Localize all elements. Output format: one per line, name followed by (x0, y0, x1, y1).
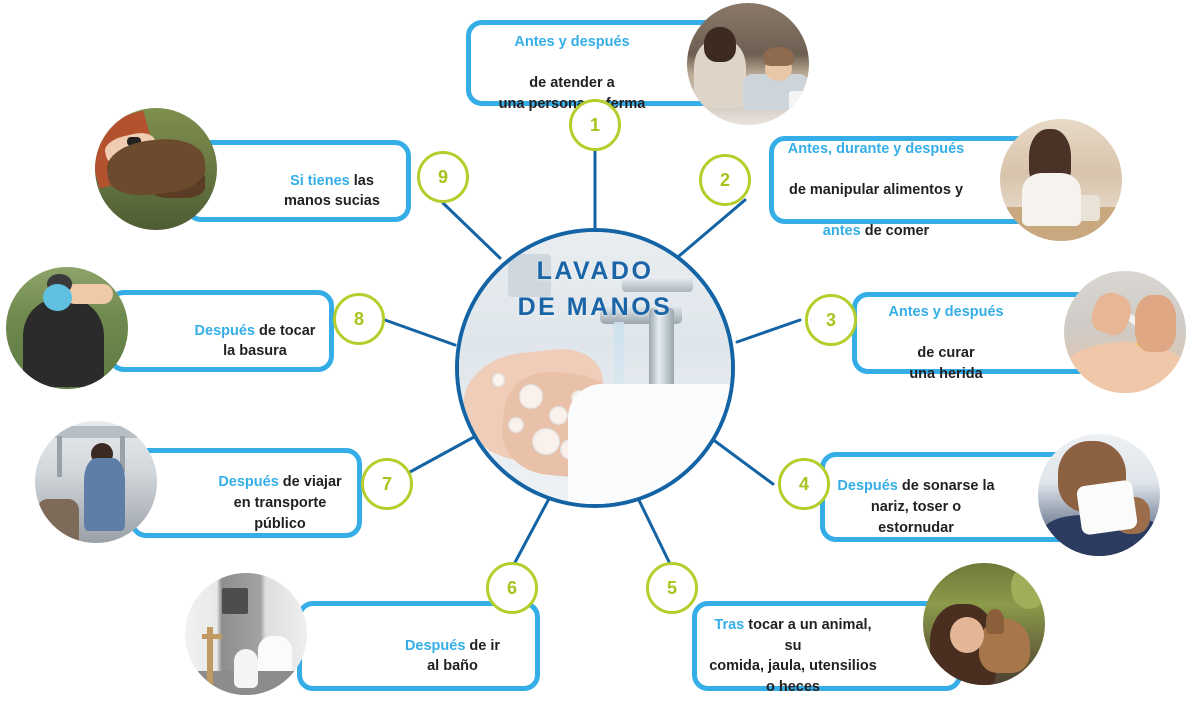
treating-wound-photo (1064, 271, 1186, 393)
number-badge-3-label: 3 (826, 310, 836, 331)
card-3-highlight: Antes y después (888, 304, 1003, 320)
connector-6 (512, 493, 552, 568)
number-badge-1-label: 1 (590, 115, 600, 136)
card-2-highlight-2: antes (823, 223, 861, 239)
card-5-text: Tras tocar a un animal, su comida, jaula… (697, 595, 957, 698)
card-8-highlight: Después (195, 323, 255, 339)
card-1-body: de atender a una persona enferma (499, 75, 646, 112)
card-7-text: Después de viajar en transporte público (138, 452, 353, 534)
central-hub: LAVADO DE MANOS (455, 228, 735, 508)
trash-bag-photo (6, 267, 128, 389)
card-6-text: Después de ir al baño (325, 615, 512, 677)
card-9[interactable]: Si tienes las manos sucias (185, 140, 411, 222)
number-badge-6[interactable]: 6 (486, 562, 538, 614)
card-1-highlight: Antes y después (514, 34, 629, 50)
number-badge-2-label: 2 (720, 170, 730, 191)
public-transport-photo (35, 421, 157, 543)
number-badge-5-label: 5 (667, 578, 677, 599)
number-badge-8-label: 8 (354, 309, 364, 330)
card-8-text: Después de tocar la basura (115, 300, 328, 362)
sneezing-tissue-photo (1038, 434, 1160, 556)
card-2-highlight: Antes, durante y después (788, 141, 964, 157)
card-9-text: Si tienes las manos sucias (204, 150, 392, 212)
card-6-highlight: Después (405, 638, 465, 654)
number-badge-9-label: 9 (438, 167, 448, 188)
number-badge-6-label: 6 (507, 578, 517, 599)
number-badge-5[interactable]: 5 (646, 562, 698, 614)
number-badge-1[interactable]: 1 (569, 99, 621, 151)
card-4-highlight: Después (837, 478, 897, 494)
caring-for-sick-person-photo (687, 3, 809, 125)
card-3-body: de curar una herida (909, 345, 982, 382)
handling-food-photo (1000, 119, 1122, 241)
card-2-body-2: de comer (861, 223, 930, 239)
touching-animal-photo (923, 563, 1045, 685)
card-3-text: Antes y después de curar una herida (876, 282, 1083, 385)
card-2-body: de manipular alimentos y (789, 182, 963, 198)
card-7-highlight: Después (218, 474, 278, 490)
card-8[interactable]: Después de tocar la basura (108, 290, 334, 372)
number-badge-4-label: 4 (799, 474, 809, 495)
card-7[interactable]: Después de viajar en transporte público (130, 448, 362, 538)
number-badge-4[interactable]: 4 (778, 458, 830, 510)
number-badge-7-label: 7 (382, 474, 392, 495)
number-badge-7[interactable]: 7 (361, 458, 413, 510)
card-5-highlight: Tras (714, 617, 744, 633)
card-6[interactable]: Después de ir al baño (297, 601, 540, 691)
connector-8 (385, 320, 455, 345)
number-badge-3[interactable]: 3 (805, 294, 857, 346)
bathroom-photo (185, 573, 307, 695)
card-9-highlight: Si tienes (290, 173, 350, 189)
card-5[interactable]: Tras tocar a un animal, su comida, jaula… (692, 601, 962, 691)
infographic-canvas: LAVADO DE MANOS Antes y después de atend… (0, 0, 1200, 707)
page-title: LAVADO DE MANOS (459, 254, 731, 325)
connector-3 (737, 320, 800, 342)
number-badge-8[interactable]: 8 (333, 293, 385, 345)
number-badge-9[interactable]: 9 (417, 151, 469, 203)
dirty-hands-photo (95, 108, 217, 230)
number-badge-2[interactable]: 2 (699, 154, 751, 206)
